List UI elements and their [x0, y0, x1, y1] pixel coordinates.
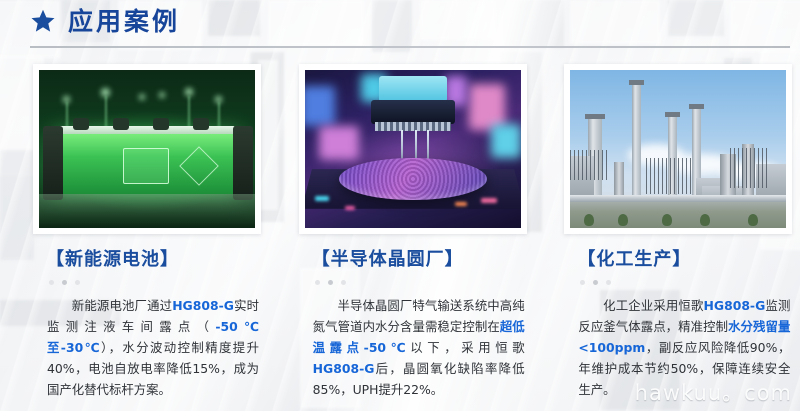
- dot: [593, 280, 598, 285]
- card-title: 【半导体晶圆厂】: [312, 251, 535, 269]
- card-body-text: 新能源电池厂通过HG808-G实时监测注液车间露点（-50℃至-30℃），水分波…: [47, 295, 259, 400]
- case-card-list: 【新能源电池】 新能源电池厂通过HG808-G实时监测注液车间露点（-50℃至-…: [0, 64, 800, 411]
- photo-frame: [564, 64, 792, 234]
- body-text-run: 以下，采用恒歌: [410, 340, 524, 355]
- semiconductor-wafer-photo: [305, 70, 521, 228]
- page-title: 应用案例: [68, 9, 180, 34]
- card-title: 【化工生产】: [577, 251, 800, 269]
- dot: [49, 280, 54, 285]
- dot: [606, 280, 611, 285]
- site-watermark: hawkuu。com: [635, 377, 792, 407]
- chemical-plant-photo: [570, 70, 786, 228]
- photo-frame: [33, 64, 261, 234]
- card-dots: [49, 280, 269, 285]
- dot: [62, 280, 67, 285]
- card-dots: [580, 280, 800, 285]
- card-title: 【新能源电池】: [46, 251, 269, 269]
- slide-page: 应用案例: [0, 0, 800, 411]
- dot: [341, 280, 346, 285]
- body-text-run: 新能源电池厂通过: [72, 298, 172, 313]
- dot: [328, 280, 333, 285]
- highlighted-text: HG808-G: [704, 298, 766, 313]
- case-card-semiconductor-fab[interactable]: 【半导体晶圆厂】 半导体晶圆厂特气输送系统中高纯氮气管道内水分含量需稳定控制在超…: [299, 64, 535, 411]
- new-energy-battery-photo: [39, 70, 255, 228]
- dot: [75, 280, 80, 285]
- photo-frame: [299, 64, 527, 234]
- card-dots: [315, 280, 535, 285]
- card-body-text: 半导体晶圆厂特气输送系统中高纯氮气管道内水分含量需稳定控制在超低温露点-50℃以…: [313, 295, 525, 400]
- title-divider: [30, 46, 790, 48]
- body-text-run: 化工企业采用恒歌: [603, 298, 703, 313]
- case-card-chemical-production[interactable]: 【化工生产】 化工企业采用恒歌HG808-G监测反应釜气体露点，精准控制水分残留…: [564, 64, 800, 411]
- highlighted-text: HG808-G: [172, 298, 234, 313]
- page-header: 应用案例: [30, 8, 180, 34]
- dot: [315, 280, 320, 285]
- case-card-new-energy-battery[interactable]: 【新能源电池】 新能源电池厂通过HG808-G实时监测注液车间露点（-50℃至-…: [33, 64, 269, 411]
- star-icon: [30, 8, 56, 34]
- highlighted-text: HG808-G: [313, 361, 375, 376]
- dot: [580, 280, 585, 285]
- body-text-run: 半导体晶圆厂特气输送系统中高纯氮气管道内水分含量需稳定控制在: [313, 298, 525, 334]
